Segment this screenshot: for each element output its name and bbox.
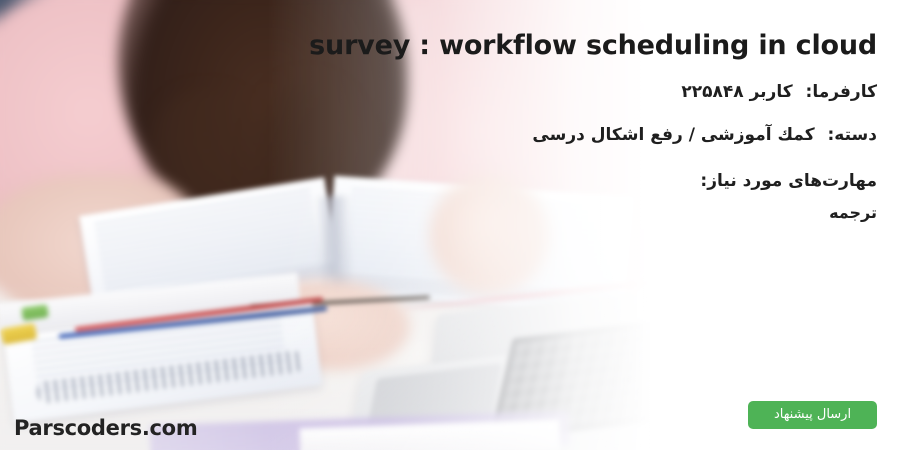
page-title: survey : workflow scheduling in cloud — [257, 31, 877, 61]
employer-row: کارفرما: کاربر ۲۲۵۸۴۸ — [257, 80, 877, 105]
submit-proposal-button[interactable]: ارسال پیشنهاد — [748, 401, 877, 429]
skills-row: مهارت‌های مورد نیاز: ترجمه — [257, 169, 877, 224]
category-value: کمك آموزشی / رفع اشکال درسی — [532, 125, 814, 145]
employer-value: کاربر ۲۲۵۸۴۸ — [681, 82, 792, 102]
job-promo-banner: survey : workflow scheduling in cloud کا… — [0, 0, 900, 450]
banner-content: survey : workflow scheduling in cloud کا… — [257, 0, 877, 224]
site-watermark: Parscoders.com — [14, 416, 197, 440]
category-row: دسته: کمك آموزشی / رفع اشکال درسی — [257, 123, 877, 148]
skills-value: ترجمه — [257, 201, 877, 224]
category-label: دسته: — [828, 125, 878, 145]
employer-label: کارفرما: — [806, 82, 877, 102]
skills-label: مهارت‌های مورد نیاز: — [257, 169, 877, 194]
